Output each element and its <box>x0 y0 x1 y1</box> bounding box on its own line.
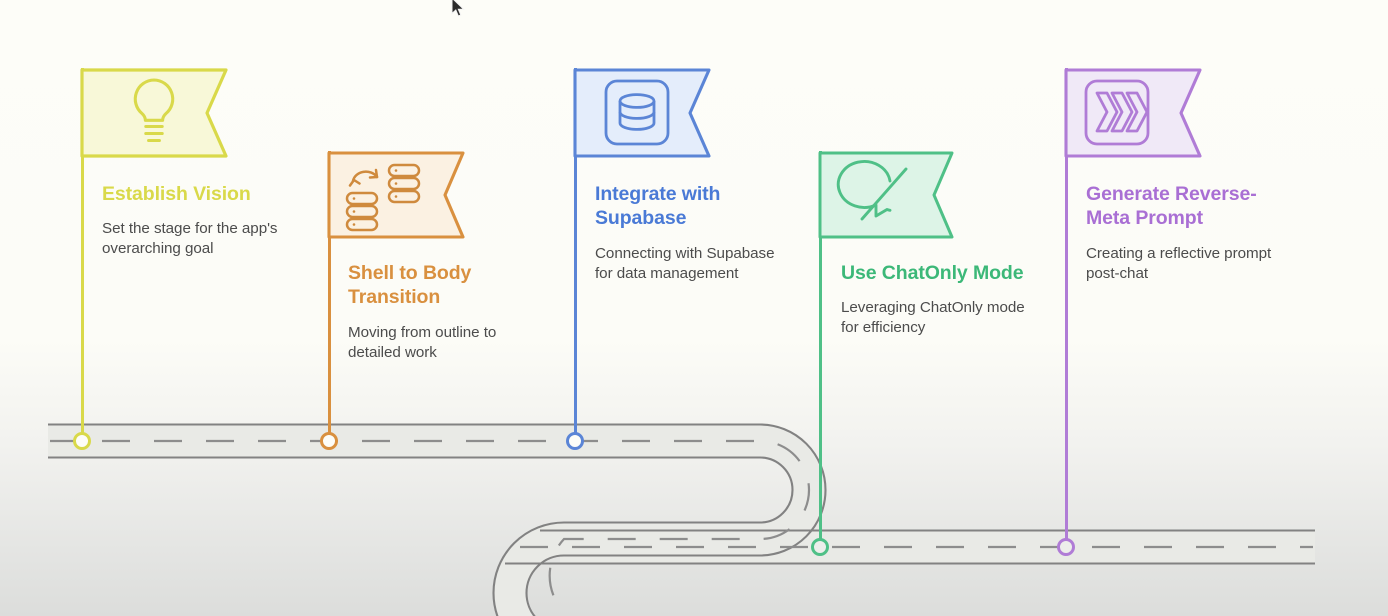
marker-use-chatonly-mode[interactable] <box>813 540 828 555</box>
marker-generate-reverse-meta-prompt[interactable] <box>1059 540 1074 555</box>
road-markers <box>0 0 1388 616</box>
marker-establish-vision[interactable] <box>75 434 90 449</box>
marker-shell-to-body-transition[interactable] <box>322 434 337 449</box>
roadmap-canvas: Establish Vision Set the stage for the a… <box>0 0 1388 616</box>
marker-integrate-with-supabase[interactable] <box>568 434 583 449</box>
mouse-pointer-icon <box>451 0 467 18</box>
